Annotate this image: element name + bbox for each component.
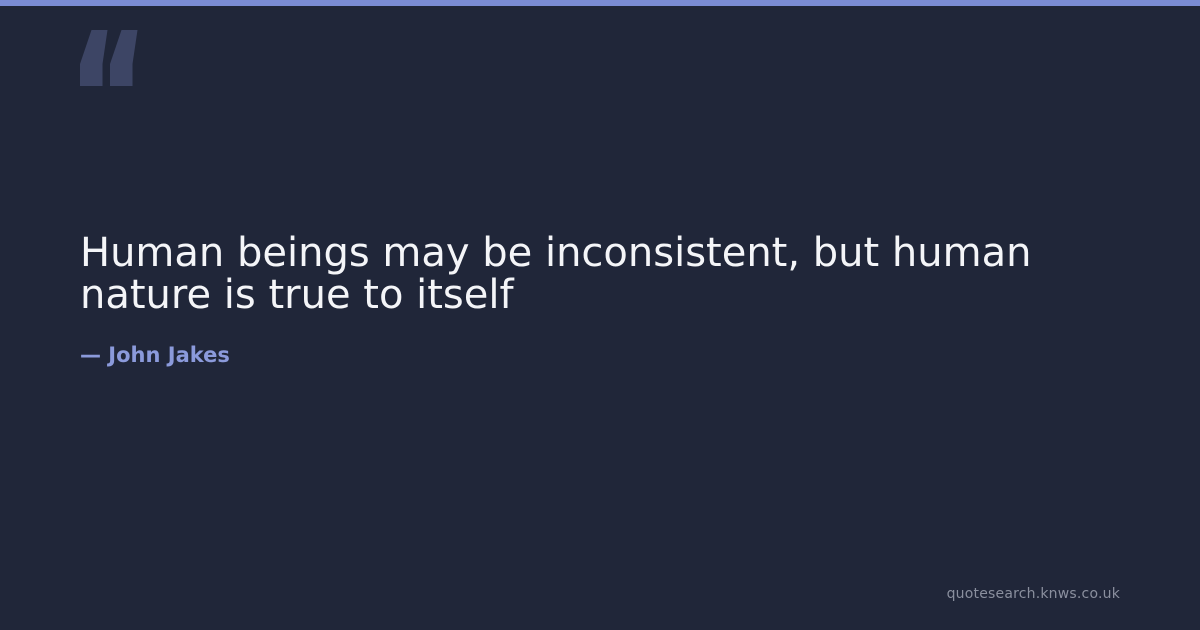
top-accent-bar [0,0,1200,6]
site-watermark: quotesearch.knws.co.uk [947,586,1120,602]
quote-body: Human beings may be inconsistent, but hu… [80,232,1120,368]
quote-text: Human beings may be inconsistent, but hu… [80,232,1120,316]
double-quote-open-icon [80,30,150,90]
quote-card: Human beings may be inconsistent, but hu… [0,0,1200,630]
quote-author: — John Jakes [80,342,1120,368]
